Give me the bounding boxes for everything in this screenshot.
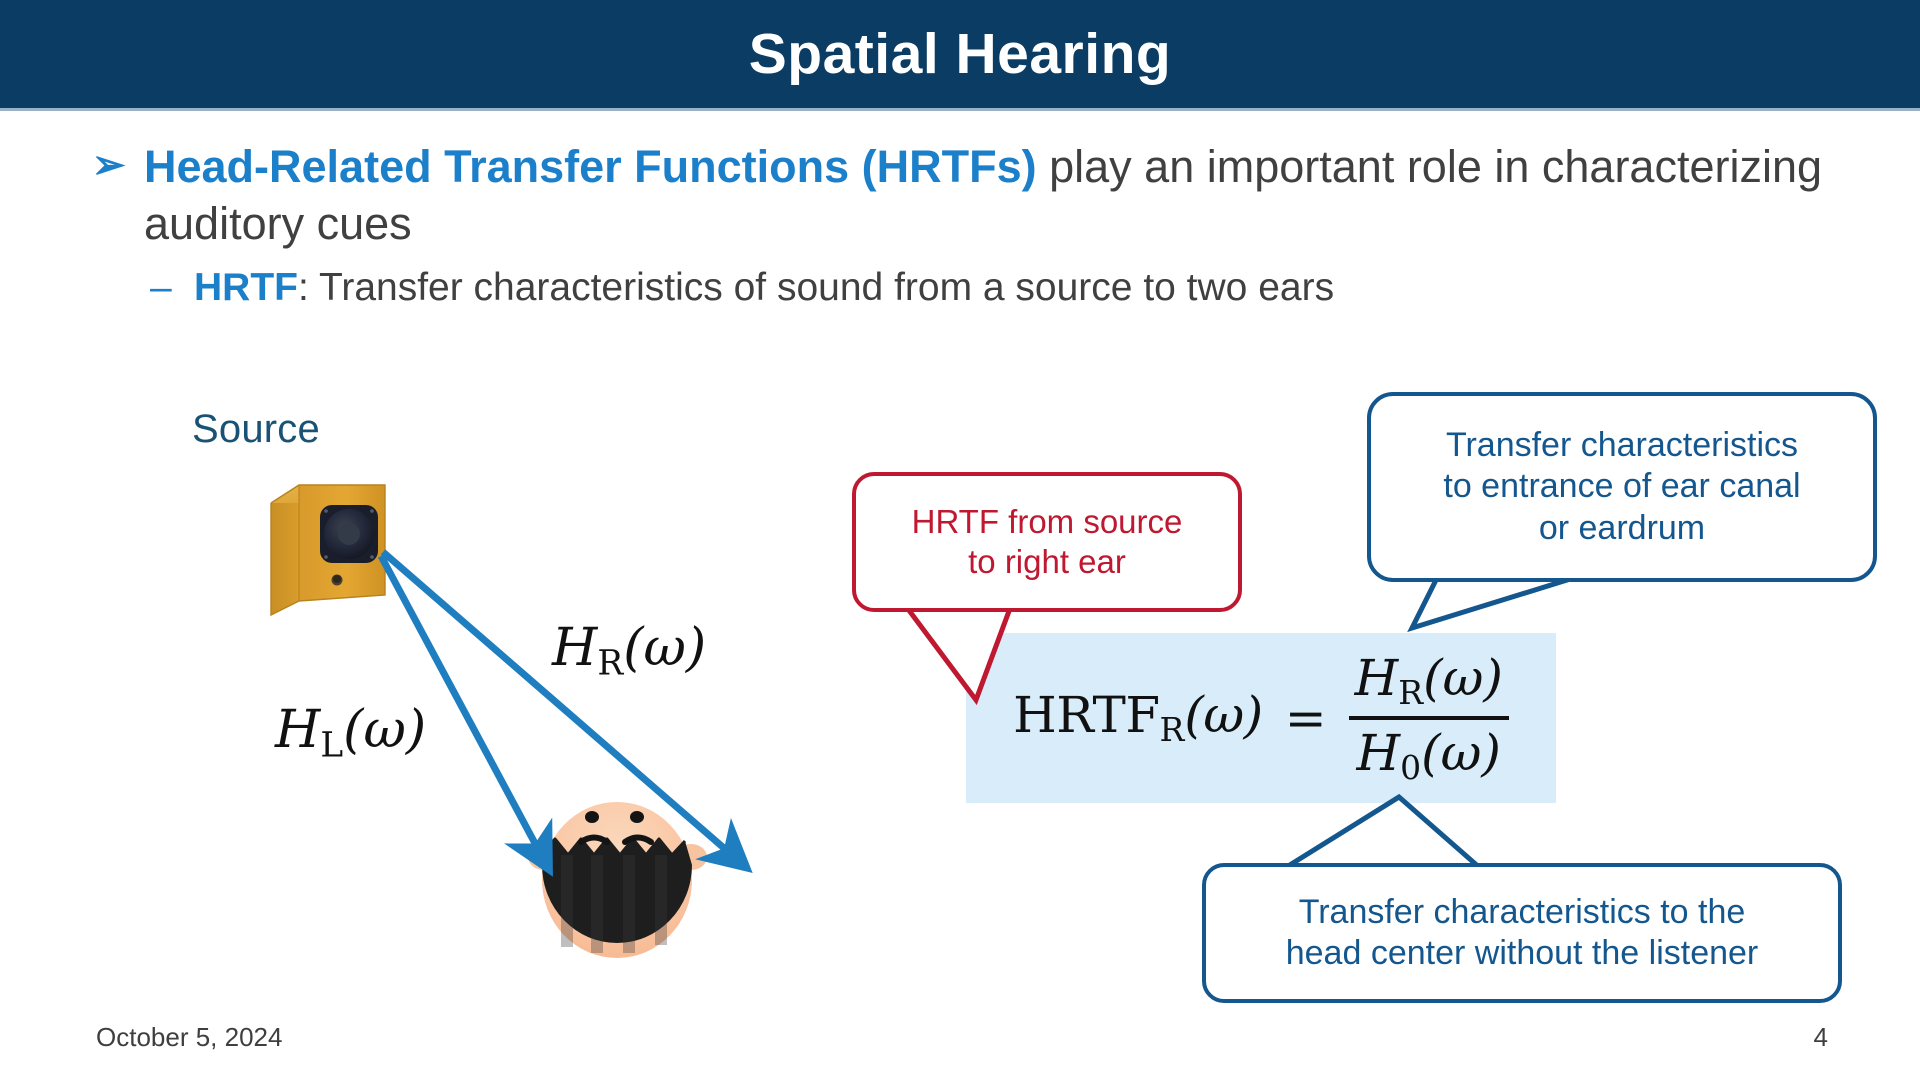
hr-subscript: R bbox=[597, 644, 623, 684]
den-argument: (ω) bbox=[1421, 724, 1501, 782]
equation-denominator: H0(ω) bbox=[1351, 720, 1507, 787]
equation-equals-sign: = bbox=[1285, 689, 1327, 747]
callout-bottom-line2: head center without the listener bbox=[1286, 933, 1759, 974]
callout-ear-canal-text: Transfer characteristics to entrance of … bbox=[1443, 425, 1800, 549]
num-subscript: R bbox=[1398, 673, 1423, 712]
bullet-level2-rest: : Transfer characteristics of sound from… bbox=[298, 266, 1334, 309]
den-subscript: 0 bbox=[1400, 748, 1421, 787]
callout-ear-canal: Transfer characteristics to entrance of … bbox=[1367, 392, 1877, 582]
listener-head-icon bbox=[525, 795, 710, 965]
arrow-bullet-icon: ➢ bbox=[92, 138, 144, 192]
eq-lhs-subscript: R bbox=[1160, 711, 1185, 750]
bullet-level2-text: HRTF: Transfer characteristics of sound … bbox=[194, 264, 1852, 313]
bottom-callout-tail bbox=[1285, 797, 1480, 868]
hl-argument: (ω) bbox=[343, 700, 426, 760]
bullet-level1: ➢ Head-Related Transfer Functions (HRTFs… bbox=[92, 138, 1852, 252]
eq-lhs-argument: (ω) bbox=[1184, 686, 1262, 744]
callout-topright-line1: Transfer characteristics bbox=[1443, 425, 1800, 466]
equation-highlight-box: HRTFR(ω) = HR(ω) H0(ω) bbox=[966, 633, 1556, 803]
callout-red-line1: HRTF from source bbox=[912, 502, 1183, 542]
callout-topright-line2: to entrance of ear canal bbox=[1443, 466, 1800, 507]
equation-left-hand-side: HRTFR(ω) bbox=[1013, 686, 1263, 749]
callout-bottom-line1: Transfer characteristics to the bbox=[1286, 892, 1759, 933]
bullet-level1-text: Head-Related Transfer Functions (HRTFs) … bbox=[144, 138, 1852, 252]
num-argument: (ω) bbox=[1423, 649, 1503, 707]
loudspeaker-svg bbox=[265, 463, 395, 623]
bullet-level2: – HRTF: Transfer characteristics of soun… bbox=[150, 264, 1852, 313]
top-right-callout-tail bbox=[1412, 576, 1580, 628]
equation-fraction: HR(ω) H0(ω) bbox=[1349, 649, 1509, 787]
transfer-function-left-label: HL(ω) bbox=[275, 700, 426, 766]
bullet-level2-keyword: HRTF bbox=[194, 266, 298, 309]
transfer-function-right-label: HR(ω) bbox=[552, 618, 706, 684]
footer-date: October 5, 2024 bbox=[96, 1022, 282, 1053]
loudspeaker-icon bbox=[265, 463, 395, 623]
equation-numerator: HR(ω) bbox=[1349, 649, 1509, 716]
hl-subscript: L bbox=[320, 726, 343, 766]
listener-head-svg bbox=[525, 795, 710, 965]
callout-red-line2: to right ear bbox=[912, 542, 1183, 582]
hl-base: H bbox=[275, 700, 320, 760]
num-base: H bbox=[1355, 649, 1399, 707]
den-base: H bbox=[1357, 724, 1401, 782]
callout-topright-line3: or eardrum bbox=[1443, 508, 1800, 549]
slide-title-bar: Spatial Hearing bbox=[0, 0, 1920, 108]
bullet-level1-keyword: Head-Related Transfer Functions (HRTFs) bbox=[144, 141, 1037, 192]
page-title: Spatial Hearing bbox=[749, 26, 1171, 83]
hr-base: H bbox=[552, 618, 597, 678]
title-underline-divider bbox=[0, 108, 1920, 111]
callout-head-center: Transfer characteristics to the head cen… bbox=[1202, 863, 1842, 1003]
callout-hrtf-from-source: HRTF from source to right ear bbox=[852, 472, 1242, 612]
hr-argument: (ω) bbox=[623, 618, 706, 678]
hrtf-equation: HRTFR(ω) = HR(ω) H0(ω) bbox=[1013, 649, 1509, 787]
footer-page-number: 4 bbox=[1814, 1022, 1828, 1053]
callout-hrtf-from-source-text: HRTF from source to right ear bbox=[912, 502, 1183, 583]
source-label: Source bbox=[192, 407, 320, 452]
eq-lhs-text: HRTF bbox=[1013, 686, 1159, 744]
dash-bullet-icon: – bbox=[150, 264, 194, 313]
callout-head-center-text: Transfer characteristics to the head cen… bbox=[1286, 892, 1759, 975]
bullet-list: ➢ Head-Related Transfer Functions (HRTFs… bbox=[92, 138, 1852, 313]
